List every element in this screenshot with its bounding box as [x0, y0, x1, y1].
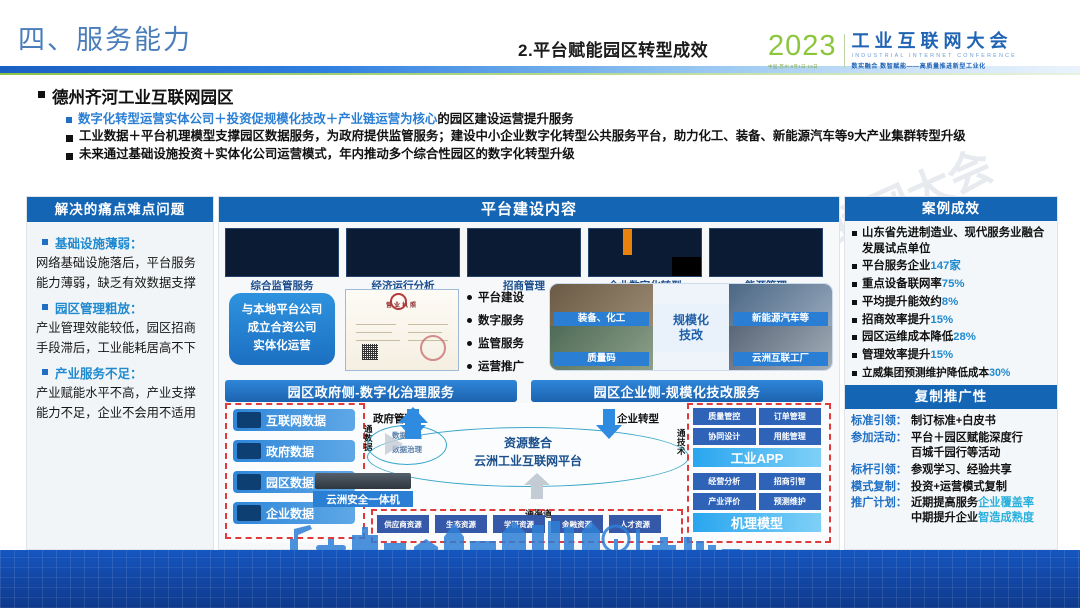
dashboard-screenshot-icon: [225, 228, 339, 277]
ellipse-main-label-2: 云洲工业互联网平台: [438, 452, 618, 469]
logo-year: 2023: [768, 32, 837, 61]
bullet-square-icon: [852, 300, 857, 305]
data-chip-government: 政府数据: [233, 440, 355, 462]
intro-bullet-2: 工业数据＋平台机理模型支撑园区数据服务，为政府提供监管服务；建设中小企业数字化转…: [66, 128, 1038, 144]
bar-gov-side: 园区政府侧-数字化治理服务: [225, 380, 517, 402]
replicability-row: 模式复制：投资+运营模式复制: [851, 480, 1053, 495]
dashboard-screenshot-icon: [709, 228, 823, 277]
app-title-industrial-app: 工业APP: [693, 448, 821, 467]
tech-upgrade-block: 装备、化工 新能源汽车等 质量码 云洲互联工厂 规模化 技改: [549, 283, 833, 371]
bullet-square-icon: [852, 353, 857, 358]
service-list-item: 数字服务: [467, 312, 547, 328]
bullet-dot-icon: [467, 341, 472, 346]
pain-point-head-2-text: 园区管理粗放：: [55, 298, 143, 317]
thumbnail-caption: 综合监管服务: [225, 280, 339, 292]
case-results-panel: 案例成效 山东省先进制造业、现代服务业融合发展试点单位 平台服务企业147家 重…: [844, 196, 1058, 550]
jv-line-1: 与本地平台公司: [242, 304, 323, 318]
platform-content-title: 平台建设内容: [219, 197, 839, 222]
header-rule-green: [0, 73, 1080, 75]
replicability-title: 复制推广性: [845, 385, 1057, 409]
dashboard-screenshot-icon: [467, 228, 581, 277]
park-building-icon: [237, 474, 261, 490]
bullet-dot-icon: [467, 295, 472, 300]
logo-title-en: INDUSTRIAL INTERNET CONFERENCE: [852, 53, 1017, 59]
pain-point-head-3-text: 产业服务不足：: [55, 363, 143, 382]
replicability-row: 推广计划：近期提高服务企业覆盖率中期提升企业智造成熟度: [851, 496, 1053, 526]
business-license-image: 营业执照: [345, 289, 459, 371]
pain-point-head-3: 产业服务不足：: [42, 363, 204, 382]
ellipse-small-label-2: 数据治理: [375, 444, 439, 455]
footer-mesh-pattern: [0, 550, 1080, 608]
intro-block: 德州齐河工业互联网园区 数字化转型运营实体公司＋投资促规模化技改＋产业链运营为核…: [38, 84, 1038, 162]
tech-label-yunzhou: 云洲互联工厂: [733, 352, 828, 366]
section-subtitle: 2.平台赋能园区转型成效: [518, 36, 708, 61]
intro-bullet-3-text: 未来通过基础设施投资＋实体化公司运营模式，年内推动多个综合性园区的数字化转型升级: [79, 146, 575, 162]
app-cell-maintenance: 预测维护: [759, 493, 822, 510]
bullet-square-icon: [852, 318, 857, 323]
jv-line-3: 实体化运营: [253, 340, 311, 354]
case-result-item: 平均提升能效约8%: [852, 295, 1052, 311]
case-results-list: 山东省先进制造业、现代服务业融合发展试点单位 平台服务企业147家 重点设备联网…: [845, 221, 1057, 380]
enterprise-building-icon: [237, 505, 261, 521]
bullet-square-blue-icon: [66, 117, 72, 123]
pain-point-head-1-text: 基础设施薄弱：: [55, 233, 143, 252]
app-cell-evaluation: 产业评价: [693, 493, 756, 510]
thumbnail-item[interactable]: 经济运行分析: [346, 228, 460, 292]
bullet-dot-icon: [467, 364, 472, 369]
bullet-square-icon: [852, 231, 857, 236]
bullet-square-blue-icon: [42, 369, 48, 375]
diagram-label-gov: 政府管理: [373, 411, 415, 426]
service-list-item: 平台建设: [467, 289, 547, 305]
case-result-item: 招商效率提升15%: [852, 313, 1052, 329]
jv-line-2: 成立合资公司: [248, 322, 317, 336]
security-appliance-image: [315, 473, 411, 489]
case-result-item: 平台服务企业147家: [852, 259, 1052, 275]
pain-points-title: 解决的痛点难点问题: [27, 197, 213, 222]
red-seal-icon: [420, 335, 446, 361]
logo-year-subtitle: 中国·苏州 8月1日-16日: [768, 64, 837, 70]
page-title: 四、服务能力: [18, 18, 192, 57]
pain-points-body: 基础设施薄弱： 网络基础设施落后，平台服务能力薄弱，缺乏有效数据支撑 园区管理粗…: [27, 222, 213, 423]
case-result-item: 园区运维成本降低28%: [852, 330, 1052, 346]
replicability-row: 标准引领：制订标准+白皮书: [851, 414, 1053, 429]
diagram-label-enterprise: 企业转型: [617, 411, 659, 426]
pain-point-head-1: 基础设施薄弱：: [42, 233, 204, 252]
bullet-square-blue-icon: [42, 239, 48, 245]
logo-tagline: 数实融合 数智赋能——高质量推进新型工业化: [852, 61, 1017, 70]
emblem-icon: [390, 293, 407, 310]
case-result-item: 管理效率提升15%: [852, 348, 1052, 364]
intro-bullet-1: 数字化转型运营实体公司＋投资促规模化技改＋产业链运营为核心的园区建设运营提升服务: [66, 111, 1038, 127]
bullet-square-icon: [852, 282, 857, 287]
thumbnail-item[interactable]: 综合监管服务: [225, 228, 339, 292]
footer-band: [0, 550, 1080, 608]
intro-heading-text: 德州齐河工业互联网园区: [52, 84, 234, 108]
app-cell-quality: 质量管控: [693, 408, 756, 425]
app-cell-design: 协同设计: [693, 428, 756, 445]
dashboard-screenshot-icon: [346, 228, 460, 277]
platform-content-panel: 平台建设内容 综合监管服务 经济运行分析 招商管理 企业数字化转型: [218, 196, 840, 550]
pain-points-panel: 解决的痛点难点问题 基础设施薄弱： 网络基础设施落后，平台服务能力薄弱，缺乏有效…: [26, 196, 214, 550]
internet-icon: [237, 412, 261, 428]
joint-venture-card: 与本地平台公司 成立合资公司 实体化运营: [229, 293, 335, 365]
slide: 2023工业互联网大会 2023工业互联网大会 四、服务能力 2.平台赋能园区转…: [0, 0, 1080, 608]
pain-point-body-2: 产业管理效能较低，园区招商手段滞后，工业能耗居高不下: [36, 319, 204, 359]
pain-point-head-2: 园区管理粗放：: [42, 298, 204, 317]
intro-bullet-1-highlight: 数字化转型运营实体公司＋投资促规模化技改＋产业链运营为核心: [78, 112, 437, 126]
logo-title-cn: 工业互联网大会: [852, 32, 1017, 51]
app-grid: 质量管控 订单管理 协同设计 用能管理 工业APP 经营分析 招商引智 产业评价…: [693, 408, 821, 532]
tech-label-equipment: 装备、化工: [554, 312, 649, 326]
logo-divider: [844, 34, 845, 68]
bullet-square-icon: [66, 135, 73, 142]
pain-point-body-3: 产业赋能水平不高，产业支撑能力不足，企业不会用不适用: [36, 384, 204, 424]
intro-bullet-3: 未来通过基础设施投资＋实体化公司运营模式，年内推动多个综合性园区的数字化转型升级: [66, 146, 1038, 162]
pain-point-body-1: 网络基础设施落后，平台服务能力薄弱，缺乏有效数据支撑: [36, 254, 204, 294]
service-list-item: 运营推广: [467, 358, 547, 374]
qr-code-icon: [362, 344, 378, 360]
app-cell-order: 订单管理: [759, 408, 822, 425]
bar-enterprise-side: 园区企业侧-规模化技改服务: [531, 380, 823, 402]
app-cell-investment: 招商引智: [759, 473, 822, 490]
ellipse-main-label-1: 资源整合: [463, 434, 593, 451]
replicability-list: 标准引领：制订标准+白皮书 参加活动：平台＋园区赋能深度行百城千园行等活动 标杆…: [845, 409, 1057, 525]
app-cell-operation: 经营分析: [693, 473, 756, 490]
service-list: 平台建设 数字服务 监管服务 运营推广: [467, 289, 547, 381]
replicability-row: 参加活动：平台＋园区赋能深度行百城千园行等活动: [851, 431, 1053, 461]
ellipse-small-label-1: 数据汇集: [375, 430, 439, 441]
bullet-dot-icon: [467, 318, 472, 323]
data-chip-internet: 互联网数据: [233, 409, 355, 431]
case-results-title: 案例成效: [845, 197, 1057, 221]
intro-bullet-2-text: 工业数据＋平台机理模型支撑园区数据服务，为政府提供监管服务；建设中小企业数字化转…: [79, 128, 1019, 144]
intro-bullet-list: 数字化转型运营实体公司＋投资促规模化技改＋产业链运营为核心的园区建设运营提升服务…: [66, 111, 1038, 162]
bullet-square-icon: [852, 335, 857, 340]
tech-label-qualitycode: 质量码: [554, 352, 649, 366]
security-appliance-label: 云洲安全一体机: [313, 491, 413, 507]
tech-center-label: 规模化 技改: [653, 304, 729, 352]
case-result-item: 山东省先进制造业、现代服务业融合发展试点单位: [852, 226, 1052, 257]
app-cell-energy: 用能管理: [759, 428, 822, 445]
tech-label-newenergy: 新能源汽车等: [733, 312, 828, 326]
service-list-item: 监管服务: [467, 335, 547, 351]
intro-heading: 德州齐河工业互联网园区: [38, 84, 1038, 108]
replicability-row: 标杆引领：参观学习、经验共享: [851, 463, 1053, 478]
conference-logo: 2023 中国·苏州 8月1日-16日 工业互联网大会 INDUSTRIAL I…: [768, 30, 1068, 72]
case-result-item: 重点设备联网率75%: [852, 277, 1052, 293]
bullet-square-icon: [852, 371, 857, 376]
bullet-square-icon: [852, 264, 857, 269]
spreadsheet-screenshot-icon: [588, 228, 702, 277]
intro-bullet-1-rest: 的园区建设运营提升服务: [437, 112, 573, 126]
bullet-square-icon: [38, 91, 45, 98]
bullet-square-blue-icon: [42, 304, 48, 310]
bullet-square-icon: [66, 153, 73, 160]
government-building-icon: [237, 443, 261, 459]
case-result-item: 立威集团预测维护降低成本30%: [852, 366, 1052, 381]
